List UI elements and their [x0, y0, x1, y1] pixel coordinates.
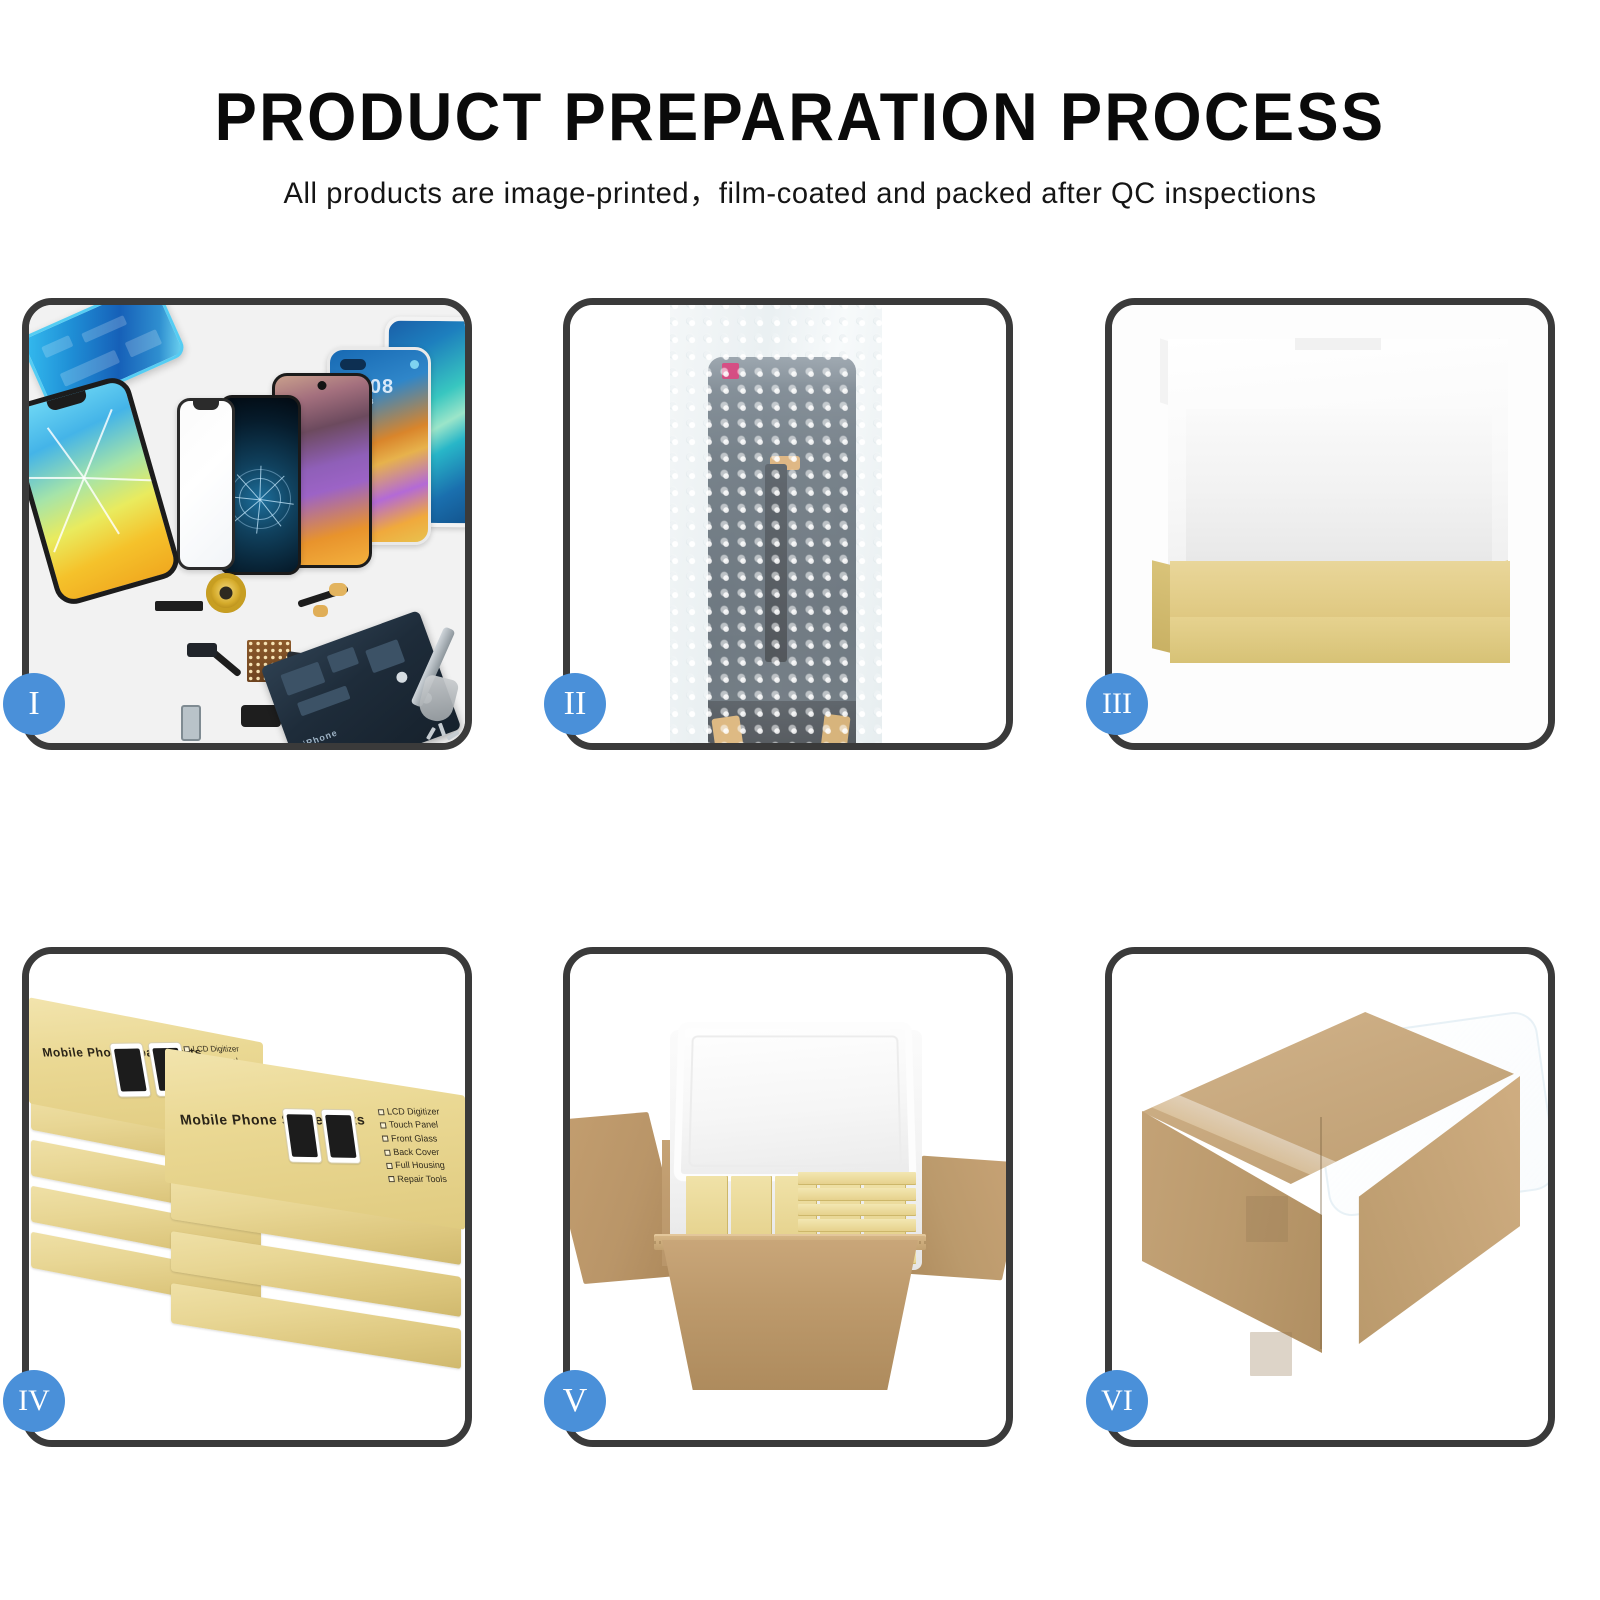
lcd-gold-tape-right — [819, 714, 850, 743]
step-numeral-1: I — [28, 685, 39, 722]
step-badge-5: V — [544, 1370, 606, 1432]
product-image-white-left — [109, 1042, 152, 1097]
step-6-image — [1112, 954, 1548, 1440]
front-glass-notch — [193, 401, 219, 410]
step-panel-5: V — [563, 947, 1013, 1447]
checklist-item-0: LCD Digitizer — [386, 1105, 440, 1118]
retail-box-stack: Mobile Phone Spare Parts LCD Digitizer T… — [29, 954, 465, 1440]
step-badge-4: IV — [3, 1370, 65, 1432]
foam-insert-sheet — [1186, 409, 1492, 569]
step-numeral-6: VI — [1101, 1384, 1133, 1417]
checklist-item-3: Back Cover — [392, 1146, 440, 1159]
lcd-bottom-board — [708, 701, 856, 743]
step-5-image — [570, 954, 1006, 1440]
lcd-gold-tape-left — [711, 715, 744, 743]
lcd-flex-strip — [765, 464, 787, 662]
earpiece-speaker-part — [155, 601, 203, 611]
retail-box-checklist-right: LCD Digitizer Touch Panel Front Glass Ba… — [377, 1105, 451, 1186]
screws-group — [429, 723, 465, 743]
gold-connector-a — [329, 583, 347, 596]
step-1-image: 08:08 Tue Mar 24 — [29, 305, 465, 743]
product-preparation-infographic: PRODUCT PREPARATION PROCESS All products… — [0, 0, 1600, 1600]
front-glass-panel — [177, 398, 235, 570]
mailer-tray-front-face — [1170, 617, 1510, 663]
step-badge-1: I — [3, 673, 65, 735]
retail-box-product-images-right — [282, 1108, 362, 1164]
checklist-item-4: Full Housing — [394, 1159, 445, 1172]
sealed-carton-box — [1118, 1012, 1548, 1382]
step-numeral-2: II — [564, 685, 587, 722]
product-image-white-right — [282, 1108, 323, 1163]
motherboard-label: iPhone — [302, 727, 339, 743]
sim-tray-part — [181, 705, 201, 741]
carton-tab-upper — [1246, 1196, 1288, 1242]
checklist-item-5: Repair Tools — [396, 1173, 447, 1186]
step-panel-3: III — [1105, 298, 1555, 750]
foam-box-lid — [673, 1022, 916, 1181]
step-4-image: Mobile Phone Spare Parts LCD Digitizer T… — [29, 954, 465, 1440]
step-panel-1: 08:08 Tue Mar 24 — [22, 298, 472, 750]
carton-tab-lower — [1250, 1332, 1292, 1376]
crack-lines — [260, 499, 261, 500]
step-badge-6: VI — [1086, 1370, 1148, 1432]
phone-front-camera-dot — [318, 381, 327, 390]
checklist-item-1: Touch Panel — [388, 1119, 439, 1132]
phone-punch-hole-dot — [410, 360, 419, 369]
checklist-item-2: Front Glass — [390, 1132, 438, 1145]
steps-grid: 08:08 Tue Mar 24 — [0, 0, 1600, 1600]
mailer-box-gold-tray — [1170, 561, 1510, 663]
step-numeral-3: III — [1102, 687, 1132, 720]
carton-vertical-crease — [1320, 1117, 1322, 1349]
step-numeral-4: IV — [18, 1384, 50, 1417]
step-panel-6: VI — [1105, 947, 1555, 1447]
carton-front-wall — [662, 1240, 918, 1390]
gold-connector-b — [313, 605, 328, 617]
phone-notch — [46, 390, 87, 412]
step-numeral-5: V — [563, 1382, 588, 1419]
step-panel-4: Mobile Phone Spare Parts LCD Digitizer T… — [22, 947, 472, 1447]
camera-module-part — [187, 643, 217, 657]
step-badge-3: III — [1086, 673, 1148, 735]
pink-qc-sticker — [722, 363, 739, 379]
lcd-screen-assembly — [708, 357, 856, 743]
step-badge-2: II — [544, 673, 606, 735]
speaker-coil-part — [206, 573, 246, 613]
step-2-image — [570, 305, 1006, 743]
phone-punch-hole-pill — [340, 359, 366, 370]
step-3-image — [1112, 305, 1548, 743]
step-panel-2: II — [563, 298, 1013, 750]
